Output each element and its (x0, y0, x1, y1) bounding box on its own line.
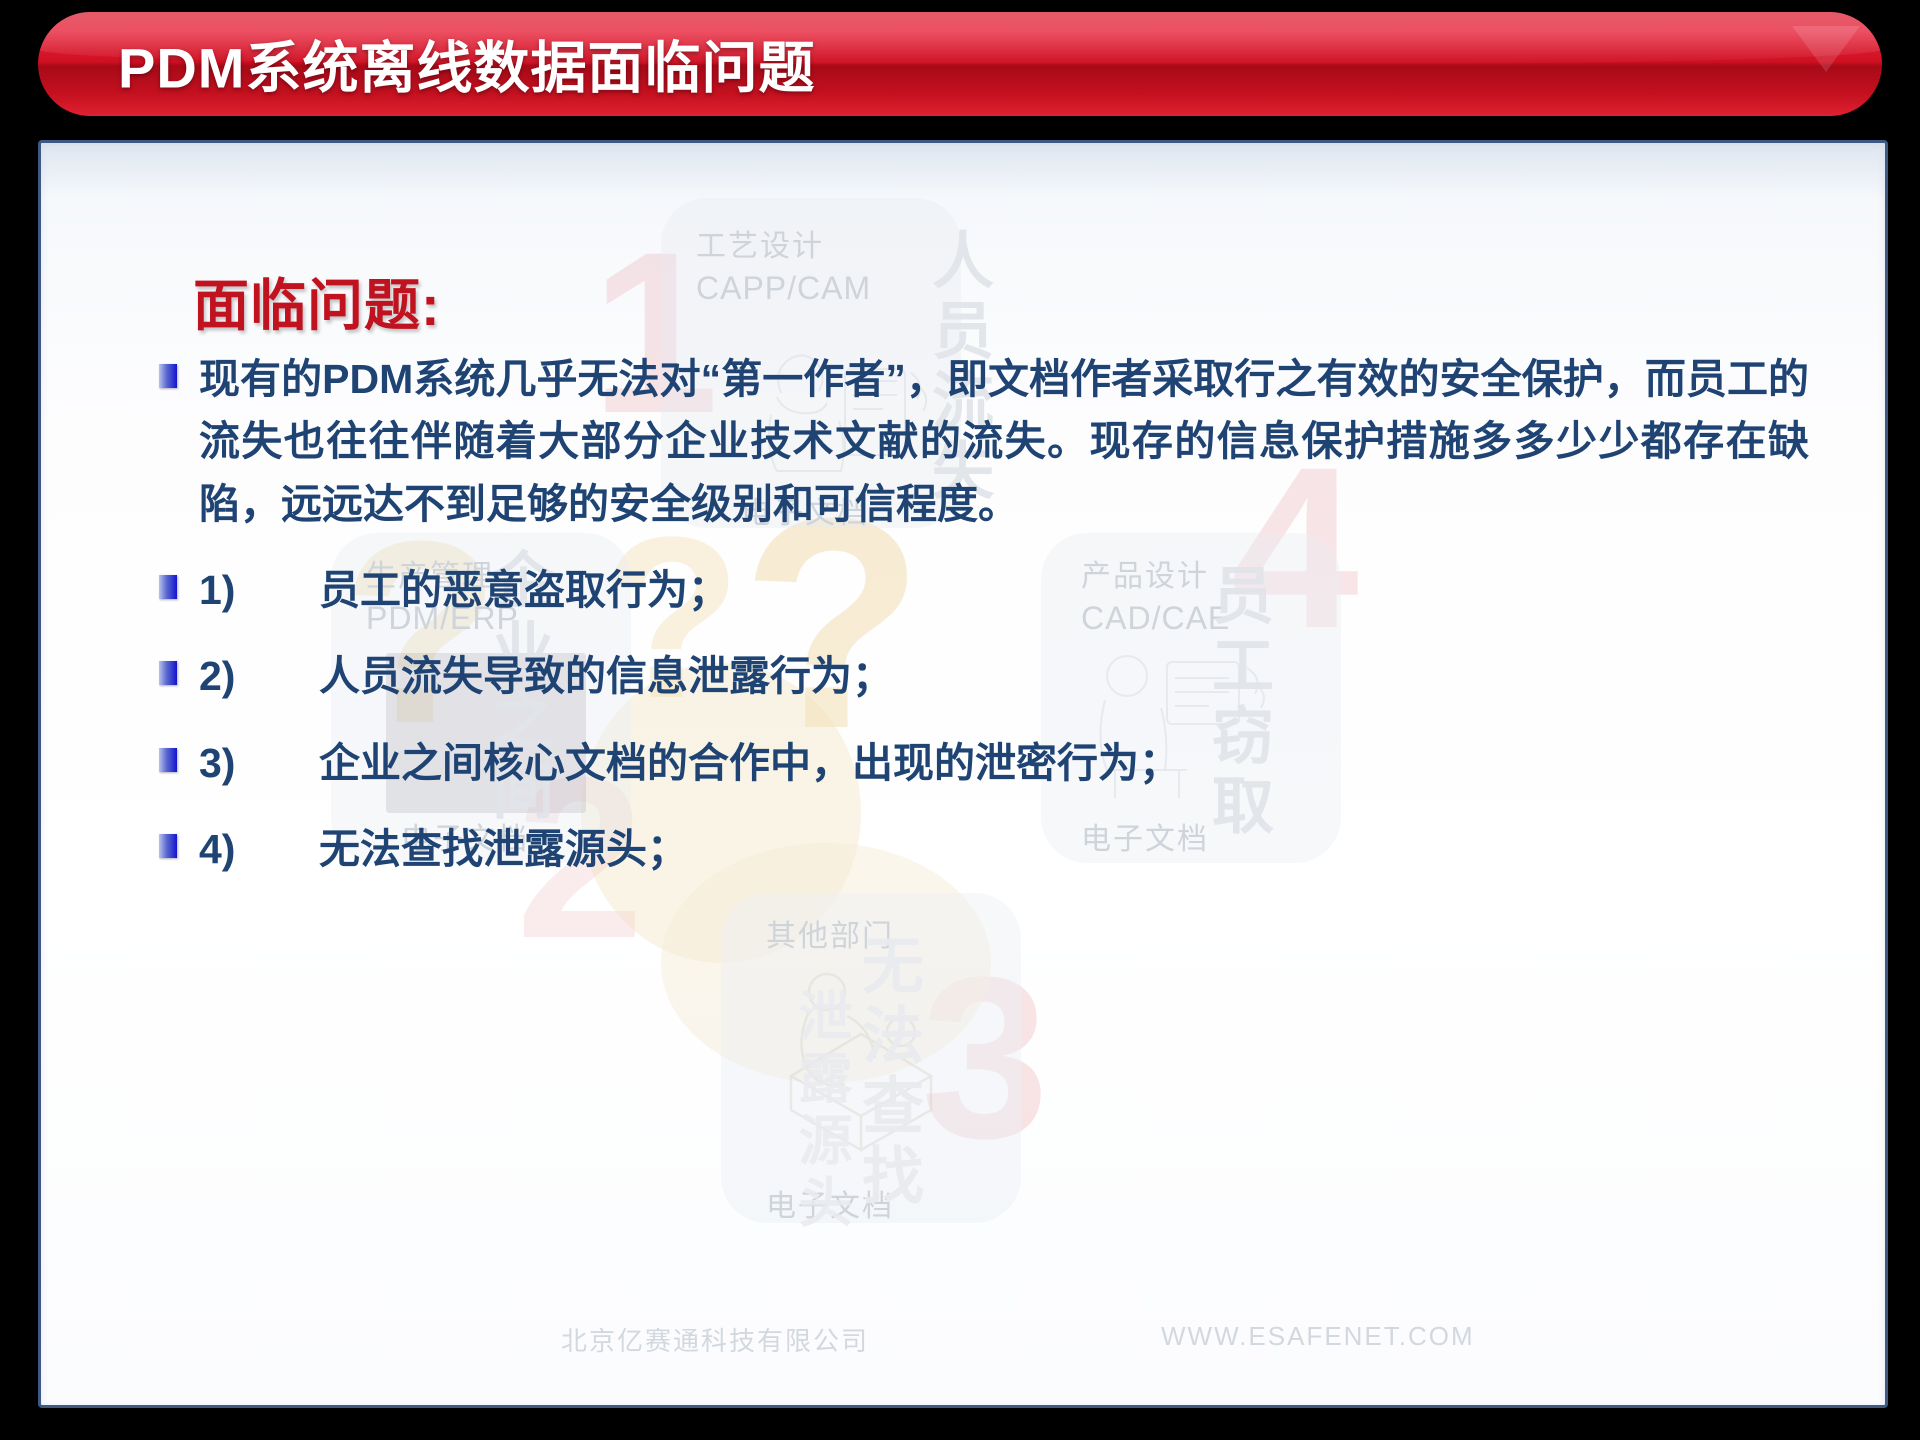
list-item: 4) 无法查找泄露源头； (159, 818, 1809, 880)
slide-title: PDM系统离线数据面临问题 (118, 24, 815, 105)
list-item-number: 2) (199, 645, 319, 707)
list-item: 3) 企业之间核心文档的合作中，出现的泄密行为； (159, 732, 1809, 794)
list-item: 1) 员工的恶意盗取行为； (159, 559, 1809, 621)
bullet-item-paragraph: 现有的PDM系统几乎无法对“第一作者”，即文档作者采取行之有效的安全保护，而员工… (159, 348, 1809, 535)
list-item-text: 企业之间核心文档的合作中，出现的泄密行为； (319, 732, 1809, 794)
list-item-text: 员工的恶意盗取行为； (319, 559, 1809, 621)
slide-body: 面临问题: 现有的PDM系统几乎无法对“第一作者”，即文档作者采取行之有效的安全… (41, 143, 1885, 1405)
list-item-text: 人员流失导致的信息泄露行为； (319, 645, 1809, 707)
bullet-square-icon (159, 661, 177, 685)
presentation-slide: PDM系统离线数据面临问题 1 4 2 3 ? ? ? 工艺设计 CAPP/CA… (0, 0, 1920, 1440)
bullet-square-icon (159, 364, 177, 388)
list-spacer (159, 539, 1809, 559)
list-item-number: 3) (199, 732, 319, 794)
bullet-square-icon (159, 834, 177, 858)
bullet-paragraph-text: 现有的PDM系统几乎无法对“第一作者”，即文档作者采取行之有效的安全保护，而员工… (199, 348, 1809, 535)
bullet-square-icon (159, 748, 177, 772)
list-spacer (159, 798, 1809, 818)
content-panel: 1 4 2 3 ? ? ? 工艺设计 CAPP/CAM (38, 140, 1888, 1408)
list-item-number: 1) (199, 559, 319, 621)
bullet-square-icon (159, 575, 177, 599)
list-item-text: 无法查找泄露源头； (319, 818, 1809, 880)
section-heading: 面临问题: (193, 261, 441, 342)
list-spacer (159, 625, 1809, 645)
bullet-list: 现有的PDM系统几乎无法对“第一作者”，即文档作者采取行之有效的安全保护，而员工… (159, 348, 1809, 884)
list-item: 2) 人员流失导致的信息泄露行为； (159, 645, 1809, 707)
list-spacer (159, 712, 1809, 732)
banner-corner-arrow-icon (1792, 26, 1860, 72)
list-item-number: 4) (199, 818, 319, 880)
title-banner: PDM系统离线数据面临问题 (38, 12, 1882, 116)
